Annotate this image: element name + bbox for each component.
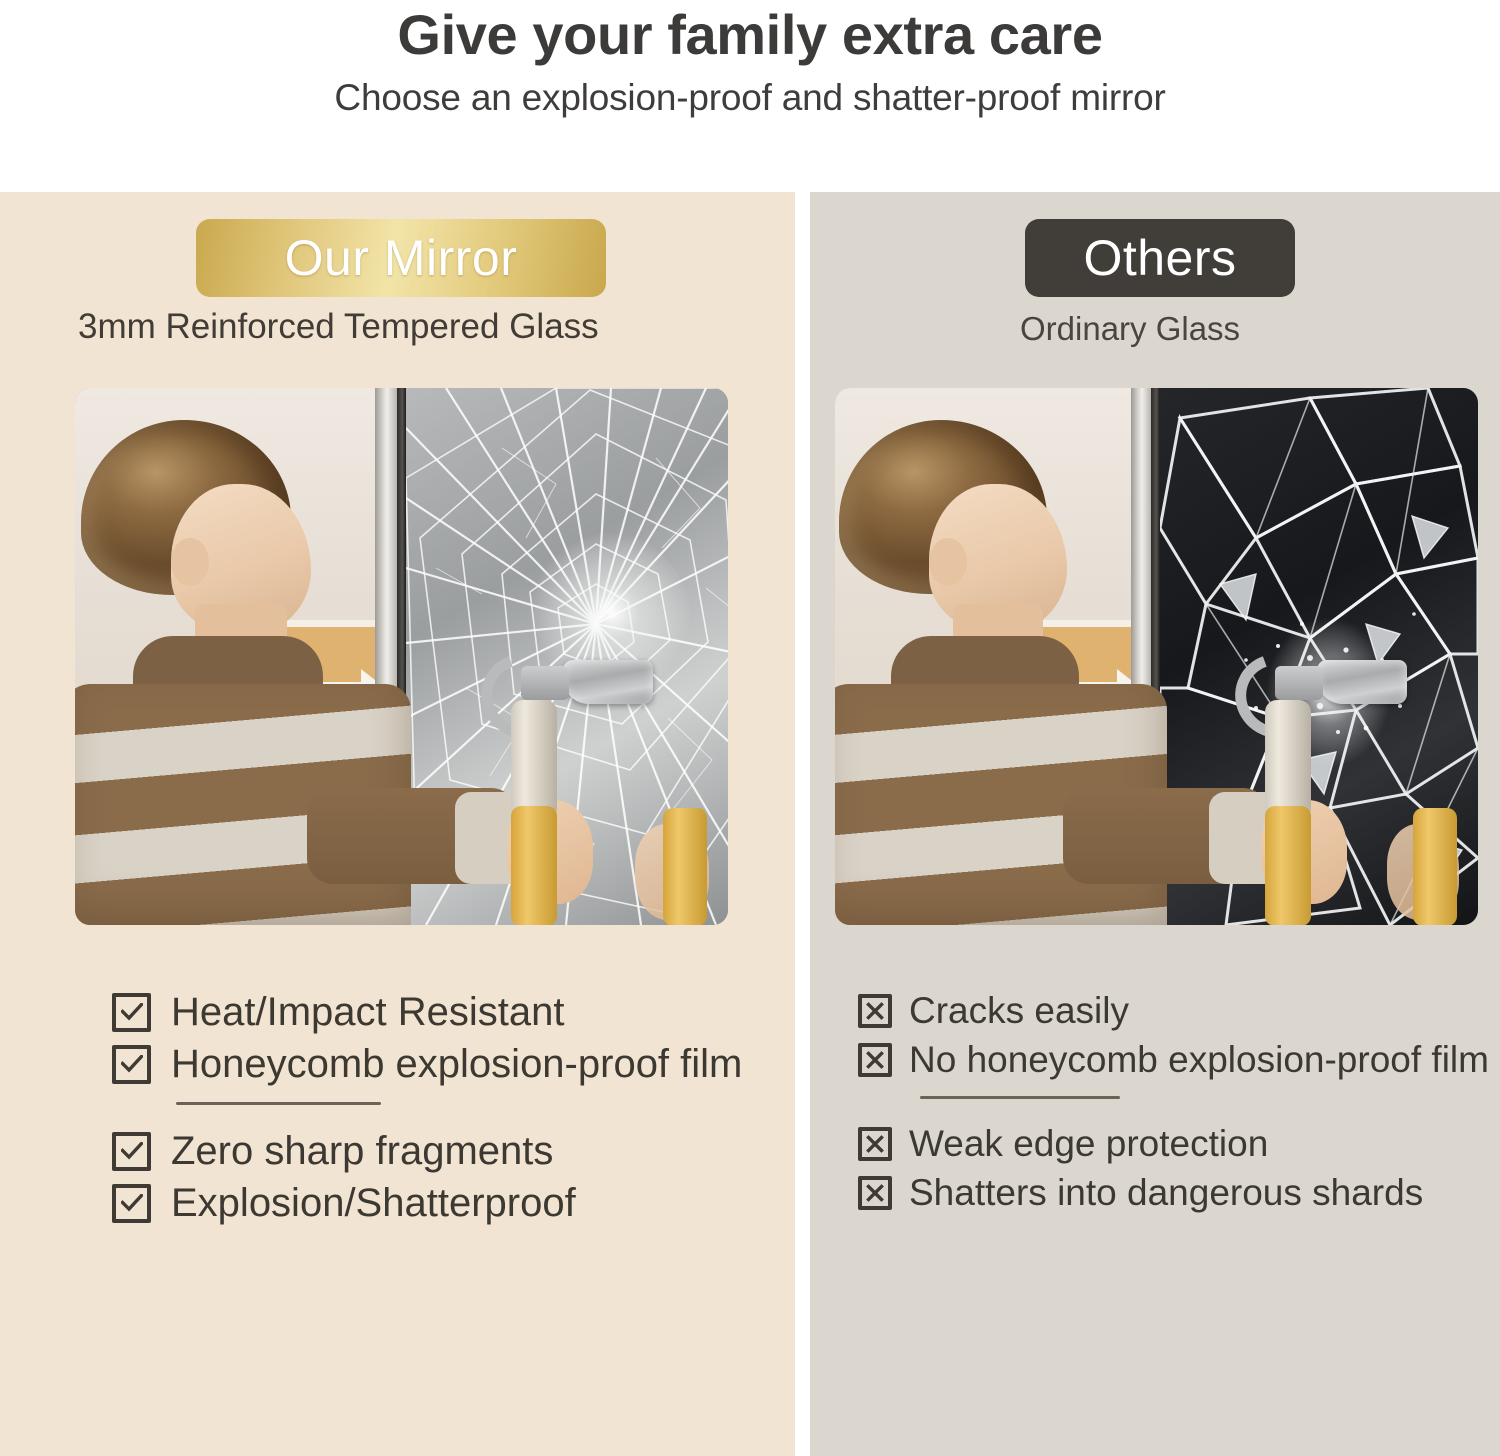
others-glass-label: Ordinary Glass bbox=[1020, 310, 1240, 348]
check-icon bbox=[112, 1045, 151, 1084]
header: Give your family extra care Choose an ex… bbox=[0, 0, 1500, 192]
our-mirror-glass-label: 3mm Reinforced Tempered Glass bbox=[78, 307, 599, 347]
list-item-label: Weak edge protection bbox=[909, 1125, 1268, 1162]
others-photo bbox=[835, 388, 1478, 925]
page-title: Give your family extra care bbox=[397, 4, 1102, 67]
cross-icon bbox=[858, 994, 892, 1028]
cross-icon bbox=[858, 1043, 892, 1077]
cross-icon bbox=[858, 1176, 892, 1210]
list-item: Weak edge protection bbox=[858, 1125, 1489, 1162]
our-mirror-badge: Our Mirror bbox=[196, 219, 606, 297]
comparison-panels: Our Mirror 3mm Reinforced Tempered Glass bbox=[0, 192, 1500, 1456]
list-item: Heat/Impact Resistant bbox=[112, 992, 742, 1032]
our-mirror-feature-list: Heat/Impact Resistant Honeycomb explosio… bbox=[112, 992, 742, 1235]
list-item: Zero sharp fragments bbox=[112, 1131, 742, 1171]
our-mirror-panel: Our Mirror 3mm Reinforced Tempered Glass bbox=[0, 192, 795, 1456]
cross-icon bbox=[858, 1127, 892, 1161]
list-item-label: Explosion/Shatterproof bbox=[171, 1183, 576, 1223]
list-item-label: Cracks easily bbox=[909, 992, 1129, 1029]
others-badge: Others bbox=[1025, 219, 1295, 297]
infographic-page: Give your family extra care Choose an ex… bbox=[0, 0, 1500, 1456]
group-divider bbox=[176, 1102, 381, 1105]
list-item: Shatters into dangerous shards bbox=[858, 1174, 1489, 1211]
list-item: Explosion/Shatterproof bbox=[112, 1183, 742, 1223]
group-divider bbox=[920, 1096, 1120, 1099]
list-item-label: No honeycomb explosion-proof film bbox=[909, 1041, 1489, 1078]
others-panel: Others Ordinary Glass bbox=[810, 192, 1500, 1456]
our-mirror-photo bbox=[75, 388, 728, 925]
list-item-label: Zero sharp fragments bbox=[171, 1131, 553, 1171]
check-icon bbox=[112, 1184, 151, 1223]
list-item: No honeycomb explosion-proof film bbox=[858, 1041, 1489, 1078]
check-icon bbox=[112, 1132, 151, 1171]
page-subtitle: Choose an explosion-proof and shatter-pr… bbox=[334, 77, 1165, 119]
others-feature-list: Cracks easily No honeycomb explosion-pro… bbox=[858, 992, 1489, 1223]
list-item: Cracks easily bbox=[858, 992, 1489, 1029]
check-icon bbox=[112, 993, 151, 1032]
list-item: Honeycomb explosion-proof film bbox=[112, 1044, 742, 1084]
list-item-label: Honeycomb explosion-proof film bbox=[171, 1044, 742, 1084]
others-badge-label: Others bbox=[1083, 229, 1236, 287]
list-item-label: Shatters into dangerous shards bbox=[909, 1174, 1423, 1211]
our-mirror-badge-label: Our Mirror bbox=[285, 229, 518, 287]
list-item-label: Heat/Impact Resistant bbox=[171, 992, 565, 1032]
